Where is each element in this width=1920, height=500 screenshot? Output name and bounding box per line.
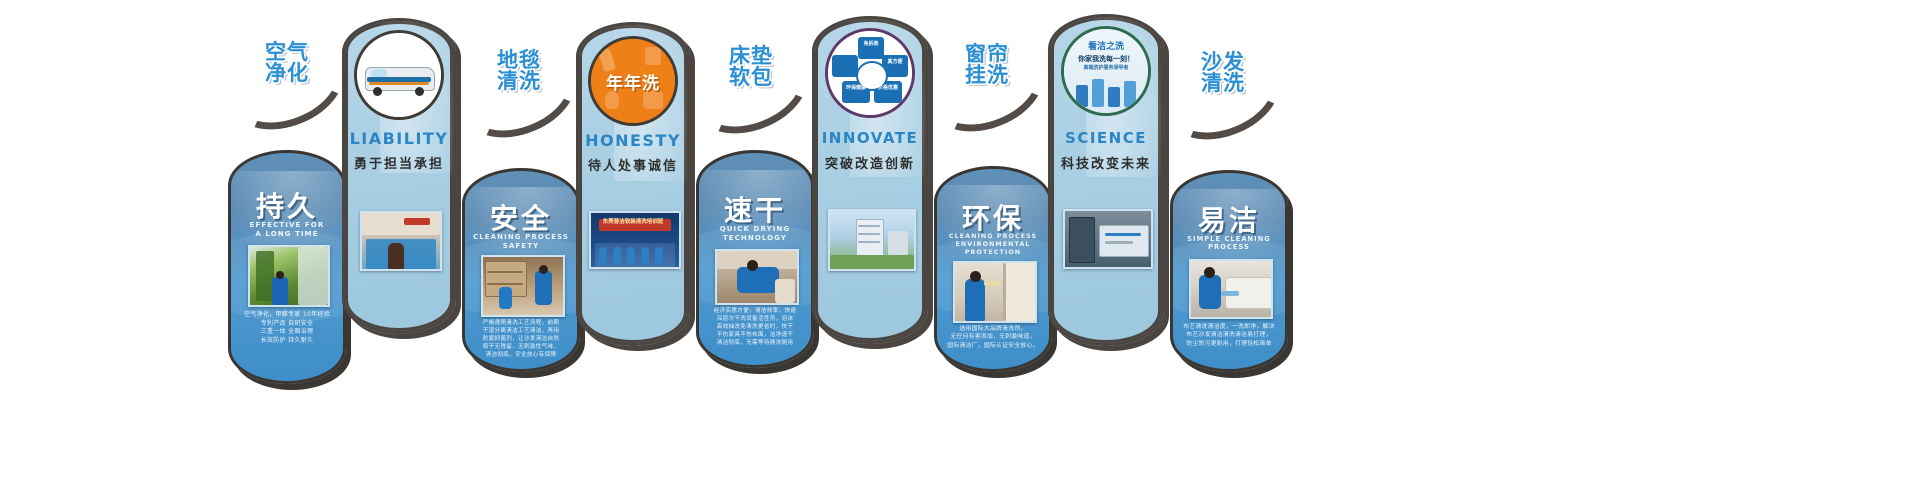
photo-image	[955, 263, 1035, 321]
pillar-title: 易洁	[1173, 199, 1285, 239]
logo-cell-label: 免拆装	[858, 40, 884, 47]
photo-image	[250, 247, 328, 305]
photo-caption: 东莞普洁软装清洗培训班	[589, 217, 677, 225]
pillar-logo-circle[interactable]	[354, 30, 444, 120]
crescent-label: 窗帘 挂洗	[928, 44, 1046, 87]
pillar-photo[interactable]	[360, 211, 442, 271]
crescent-sofa-cleaning: 沙发 清洗	[1164, 58, 1282, 136]
pillar-simple-clean[interactable]: 易洁 SIMPLE CLEANING PROCESS 布艺清洗清洁度，一洗即净，…	[1170, 170, 1282, 366]
logo-image	[357, 33, 441, 117]
logo-slogan-line: 高端洗护服务领导者	[1064, 65, 1148, 72]
pillar-environment[interactable]: 环保 CLEANING PROCESS ENVIRONMENTAL PROTEC…	[934, 166, 1046, 366]
pillar-surface: 环保 CLEANING PROCESS ENVIRONMENTAL PROTEC…	[934, 166, 1052, 372]
pillar-title: 安全	[465, 197, 577, 237]
pillar-quick-drying[interactable]: 速干 QUICK DRYING TECHNOLOGY 经济实惠方便，清洁效率，快…	[696, 150, 808, 362]
pillar-en-caption: QUICK DRYING TECHNOLOGY	[699, 225, 811, 243]
pillar-title: 持久	[231, 185, 343, 225]
pillar-photo[interactable]	[828, 209, 916, 271]
pillar-effective[interactable]: 持久 EFFECTIVE FOR A LONG TIME 空气净化，甲醛专家 1…	[228, 150, 340, 378]
pillar-surface: 持久 EFFECTIVE FOR A LONG TIME 空气净化，甲醛专家 1…	[228, 150, 346, 384]
photo-image	[830, 211, 914, 269]
pillar-photo[interactable]	[715, 249, 799, 305]
crescent-mattress-soft: 床垫 软包	[692, 52, 810, 130]
logo-cell-label: 环保健康	[842, 84, 870, 91]
pillar-photo[interactable]	[248, 245, 330, 307]
pillar-body-text: 严格遵照清洗工艺流程，前期 干湿分离清洁工艺清洁，再用 防腐抑菌剂，让沙发清洁自…	[465, 319, 577, 360]
crescent-label: 地毯 清洗	[460, 50, 578, 93]
crescent-air-purification: 空气 净化	[228, 48, 346, 126]
logo-cell-label: 价格优惠	[874, 84, 902, 91]
pillar-en-heading: LIABILITY	[345, 129, 453, 148]
pillar-logo-circle[interactable]: 看洁之洗 你家我洗每一刻！ 高端洗护服务领导者	[1061, 26, 1151, 116]
pillar-safety[interactable]: 安全 CLEANING PROCESS SAFETY 严格遵照清洗工艺流程，前期…	[462, 168, 574, 366]
pillar-en-caption: CLEANING PROCESS ENVIRONMENTAL PROTECTIO…	[937, 233, 1049, 257]
crescent-label: 床垫 软包	[692, 46, 810, 89]
pillar-title: 速干	[699, 189, 811, 229]
pillar-science[interactable]: SCIENCE 科技改变未来 看洁之洗 你家我洗每一刻！ 高端洗护服务领导者	[1048, 14, 1158, 340]
crescent-label: 沙发 清洗	[1164, 52, 1282, 95]
pillar-en-caption: EFFECTIVE FOR A LONG TIME	[231, 221, 343, 239]
pillar-en-caption: SIMPLE CLEANING PROCESS	[1173, 235, 1285, 251]
photo-image	[1065, 211, 1151, 267]
logo-image: 看洁之洗 你家我洗每一刻！ 高端洗护服务领导者	[1064, 29, 1148, 113]
pillar-innovate[interactable]: INNOVATE 突破改造创新	[812, 16, 922, 338]
logo-cell-label: 真方便	[882, 58, 908, 65]
pillar-cn-subtitle: 勇于担当承担	[345, 153, 453, 172]
pillar-cn-subtitle: 待人处事诚信	[579, 155, 687, 174]
pillar-photo[interactable]	[1063, 209, 1153, 269]
photo-image	[717, 251, 797, 303]
pillar-title: 环保	[937, 197, 1049, 237]
pillar-cn-subtitle: 科技改变未来	[1051, 153, 1161, 172]
pillar-logo-circle[interactable]: 免拆装 真方便 价格优惠 环保健康	[825, 28, 915, 118]
pillar-photo[interactable]	[953, 261, 1037, 323]
pillar-liability[interactable]: LIABILITY 勇于担当承担	[342, 18, 450, 328]
pillar-surface: 安全 CLEANING PROCESS SAFETY 严格遵照清洗工艺流程，前期…	[462, 168, 580, 372]
pillar-en-heading: HONESTY	[579, 131, 687, 150]
photo-image	[362, 213, 440, 269]
pillar-body-text: 经济实惠方便，清洁效率，快速 深层次干洗设备活性剂，泡沫 高效抽洗免清洗更省时，…	[699, 307, 811, 348]
logo-badge-text: 年年洗	[591, 69, 675, 94]
pillar-surface: 易洁 SIMPLE CLEANING PROCESS 布艺清洗清洁度，一洗即净，…	[1170, 170, 1288, 372]
pillar-body-text: 空气净化，甲醛专家 10年经验 专利产品 自研安全 三重一体 全面治理 长效防护…	[231, 311, 343, 346]
pillar-logo-circle[interactable]: 年年洗	[588, 36, 678, 126]
pillar-cn-subtitle: 突破改造创新	[815, 153, 925, 172]
pillar-surface: 速干 QUICK DRYING TECHNOLOGY 经济实惠方便，清洁效率，快…	[696, 150, 814, 368]
pillar-photo[interactable]	[1189, 259, 1273, 319]
logo-slogan-line: 你家我洗每一刻！	[1064, 55, 1148, 65]
logo-badge-text: 看洁之洗	[1064, 39, 1148, 52]
pillar-photo[interactable]	[481, 255, 565, 317]
crescent-curtain-washing: 窗帘 挂洗	[928, 50, 1046, 128]
culture-wall-canvas: 空气 净化 持久 EFFECTIVE FOR A LONG TIME	[0, 0, 1920, 500]
pillar-body-text: 选用国际大品牌清洗剂， 无任何有害添加，无刺激味道， 国际清洁厂，国际认证安全放…	[937, 325, 1049, 350]
pillar-body-text: 布艺清洗清洁度，一洗即净，解决 布艺沙发清洁清洗清洁易打理， 防尘防污更耐用，打…	[1173, 323, 1285, 348]
logo-image: 免拆装 真方便 价格优惠 环保健康	[828, 31, 912, 115]
photo-image	[1191, 261, 1271, 317]
logo-image: 年年洗	[591, 39, 675, 123]
pillar-en-heading: INNOVATE	[815, 129, 925, 147]
crescent-label: 空气 净化	[228, 42, 346, 85]
photo-image	[483, 257, 563, 315]
pillar-en-caption: CLEANING PROCESS SAFETY	[465, 233, 577, 251]
pillar-honesty[interactable]: HONESTY 待人处事诚信 东莞普洁软装清洗培训班	[576, 22, 684, 340]
crescent-carpet-cleaning: 地毯 清洗	[460, 56, 578, 134]
pillar-en-heading: SCIENCE	[1051, 129, 1161, 147]
